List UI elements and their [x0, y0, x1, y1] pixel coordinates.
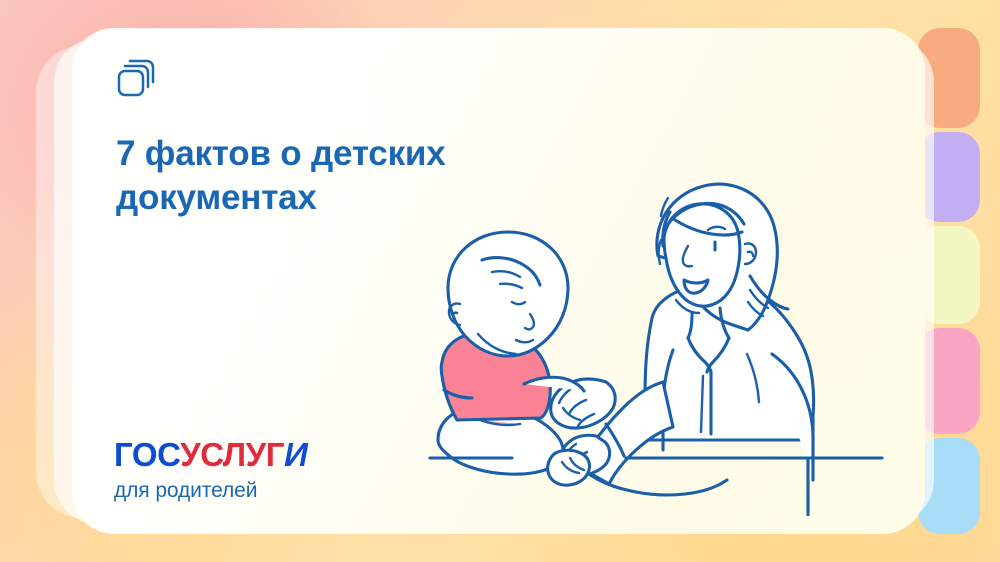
logo-part-i: И [284, 436, 307, 473]
illustration-woman [551, 184, 814, 495]
baby-foot [548, 450, 590, 485]
stacked-documents-icon [114, 58, 158, 100]
logo-wordmark: ГОСУСЛУГИ [114, 438, 307, 471]
logo-part-gos: ГОС [114, 436, 180, 473]
logo-subtitle: для родителей [114, 480, 307, 501]
logo-part-uslug: УСЛУГ [180, 436, 284, 473]
slide-canvas: 7 фактов о детских документах ГОСУСЛУГИ … [0, 0, 1000, 562]
woman-holding-baby-illustration [420, 168, 890, 516]
gosuslugi-logo[interactable]: ГОСУСЛУГИ для родителей [114, 438, 307, 501]
